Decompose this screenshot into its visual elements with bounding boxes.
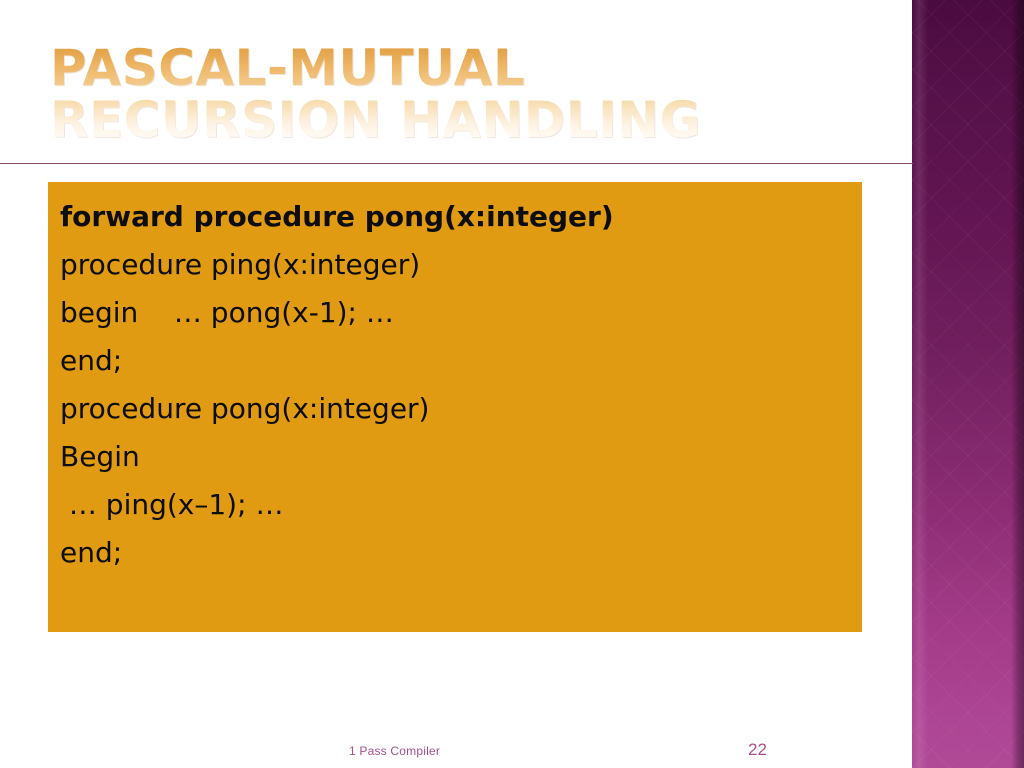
code-line: end; (60, 337, 862, 385)
code-block: forward procedure pong(x:integer) proced… (48, 182, 862, 632)
sidebar-highlight-band (912, 0, 928, 768)
decorative-sidebar (912, 0, 1024, 768)
page-title: Pascal-Mutual Recursion Handling (50, 42, 840, 146)
title-divider (0, 163, 913, 164)
code-line: … ping(x–1); … (60, 481, 862, 529)
code-line: forward procedure pong(x:integer) (60, 193, 862, 241)
footer-label: 1 Pass Compiler (349, 744, 440, 758)
code-line: procedure pong(x:integer) (60, 385, 862, 433)
slide-canvas: Pascal-Mutual Recursion Handling Pascal-… (0, 0, 1024, 768)
code-line: end; (60, 529, 862, 577)
code-line: Begin (60, 433, 862, 481)
sidebar-diamond-texture (912, 0, 1024, 768)
sidebar-shadow-band (1011, 0, 1024, 768)
code-line: begin … pong(x-1); … (60, 289, 862, 337)
slide-page-number: 22 (748, 740, 767, 760)
code-line: procedure ping(x:integer) (60, 241, 862, 289)
